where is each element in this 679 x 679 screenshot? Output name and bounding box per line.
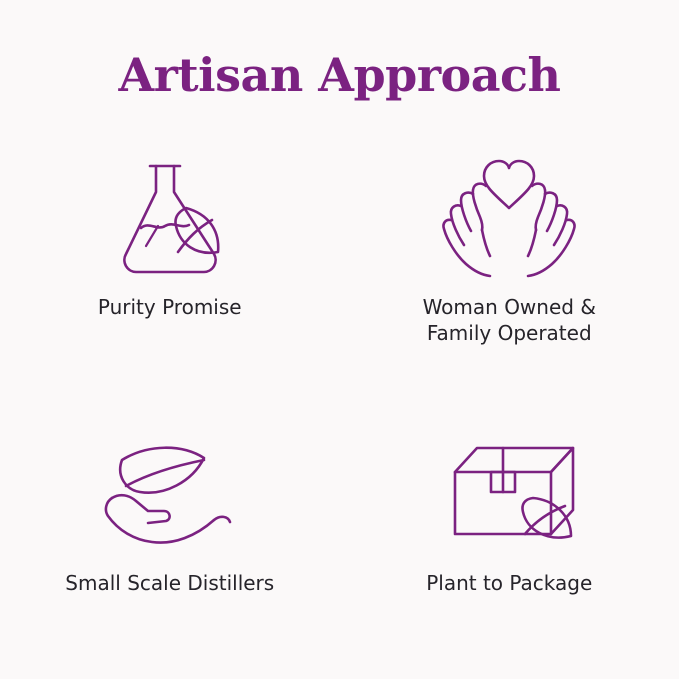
page-title: Artisan Approach: [0, 48, 679, 102]
feature-label: Purity Promise: [98, 295, 242, 321]
feature-grid: Purity Promise: [0, 150, 679, 650]
feature-item-woman-owned: Woman Owned & Family Operated: [340, 150, 679, 400]
feature-item-plant-to-package: Plant to Package: [340, 400, 679, 650]
box-leaf-icon: [429, 426, 589, 561]
flask-leaf-icon: [100, 150, 240, 285]
hands-heart-icon: [424, 150, 594, 285]
feature-item-small-scale-distillers: Small Scale Distillers: [0, 400, 340, 650]
feature-label: Small Scale Distillers: [65, 571, 274, 597]
artisan-approach-panel: Artisan Approach Purity Promise: [0, 0, 679, 679]
hand-leaf-icon: [90, 426, 250, 561]
feature-label: Woman Owned & Family Operated: [423, 295, 596, 346]
feature-item-purity-promise: Purity Promise: [0, 150, 340, 400]
feature-label: Plant to Package: [426, 571, 592, 597]
